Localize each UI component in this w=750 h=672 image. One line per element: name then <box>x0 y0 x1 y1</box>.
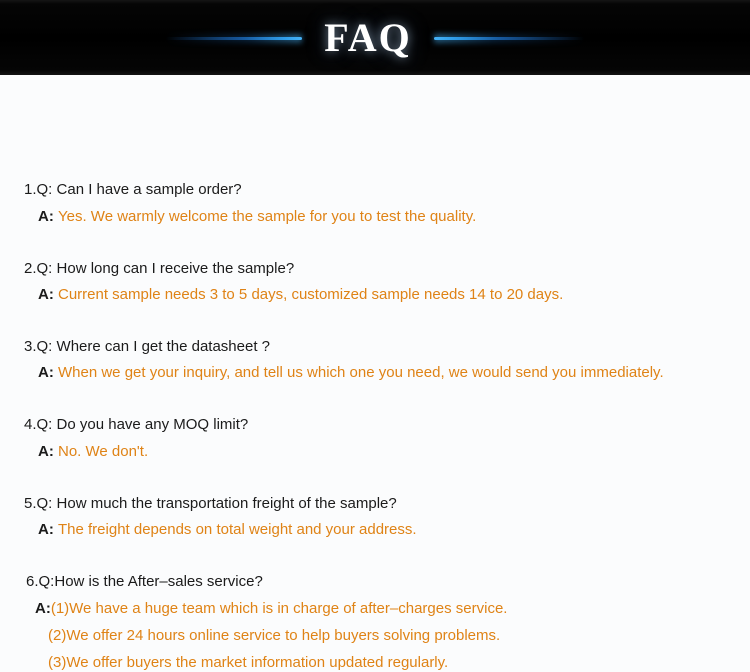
faq-answer-2: A: Current sample needs 3 to 5 days, cus… <box>38 286 563 304</box>
rule-left-glow <box>166 34 302 43</box>
faq-q-label-4: Q: <box>37 416 57 433</box>
faq-question-text-2: How long can I receive the sample? <box>57 260 295 277</box>
faq-number-3: 3. <box>24 338 37 355</box>
faq-question-6: 6.Q:How is the After–sales service? <box>26 573 263 591</box>
faq-answer-5: A: The freight depends on total weight a… <box>38 521 417 539</box>
faq-question-text-4: Do you have any MOQ limit? <box>57 416 249 433</box>
faq-answer-text-2: Current sample needs 3 to 5 days, custom… <box>58 286 563 303</box>
decorative-rule-right-icon <box>434 37 584 40</box>
faq-q-label-3: Q: <box>37 338 57 355</box>
page-title: FAQ <box>324 18 411 58</box>
faq-question-4: 4.Q: Do you have any MOQ limit? <box>24 416 248 434</box>
faq-answer-6: A:(1)We have a huge team which is in cha… <box>35 600 507 618</box>
faq-q-label-5: Q: <box>37 495 57 512</box>
faq-answer-text-4: No. We don't. <box>58 443 148 460</box>
faq-a-label-2: A: <box>38 286 58 303</box>
faq-question-text-3: Where can I get the datasheet ? <box>57 338 270 355</box>
faq-header-banner: FAQ <box>0 0 750 75</box>
faq-answer-1: A: Yes. We warmly welcome the sample for… <box>38 208 476 226</box>
faq-q-label-1: Q: <box>37 181 57 198</box>
faq-q-label-6: Q: <box>39 573 55 590</box>
faq-question-3: 3.Q: Where can I get the datasheet ? <box>24 338 270 356</box>
faq-a-label-1: A: <box>38 208 58 225</box>
faq-question-text-5: How much the transportation freight of t… <box>57 495 397 512</box>
faq-answer-text-5: The freight depends on total weight and … <box>58 521 417 538</box>
faq-number-2: 2. <box>24 260 37 277</box>
faq-number-1: 1. <box>24 181 37 198</box>
faq-number-5: 5. <box>24 495 37 512</box>
faq-answer-text-1: Yes. We warmly welcome the sample for yo… <box>58 208 476 225</box>
faq-question-2: 2.Q: How long can I receive the sample? <box>24 260 294 278</box>
faq-sub-answer-6-3: (3)We offer buyers the market informatio… <box>48 654 448 672</box>
banner-content: FAQ <box>0 0 750 75</box>
faq-number-6: 6. <box>26 573 39 590</box>
faq-a-label-3: A: <box>38 364 58 381</box>
faq-answer-4: A: No. We don't. <box>38 443 148 461</box>
faq-number-4: 4. <box>24 416 37 433</box>
rule-right-glow <box>434 34 584 43</box>
faq-question-text-1: Can I have a sample order? <box>57 181 242 198</box>
faq-answer-text-3: When we get your inquiry, and tell us wh… <box>58 364 664 381</box>
faq-answer-3: A: When we get your inquiry, and tell us… <box>38 364 664 382</box>
faq-a-label-5: A: <box>38 521 58 538</box>
faq-question-1: 1.Q: Can I have a sample order? <box>24 181 242 199</box>
faq-q-label-2: Q: <box>37 260 57 277</box>
decorative-rule-left-icon <box>166 37 302 40</box>
faq-question-text-6: How is the After–sales service? <box>54 573 262 590</box>
faq-a-label-4: A: <box>38 443 58 460</box>
faq-question-5: 5.Q: How much the transportation freight… <box>24 495 397 513</box>
faq-answer-text-6: (1)We have a huge team which is in charg… <box>51 600 508 617</box>
faq-a-label-6: A: <box>35 600 51 617</box>
faq-sub-answer-6-2: (2)We offer 24 hours online service to h… <box>48 627 500 645</box>
faq-page: FAQ 1.Q: Can I have a sample order? A: Y… <box>0 0 750 638</box>
